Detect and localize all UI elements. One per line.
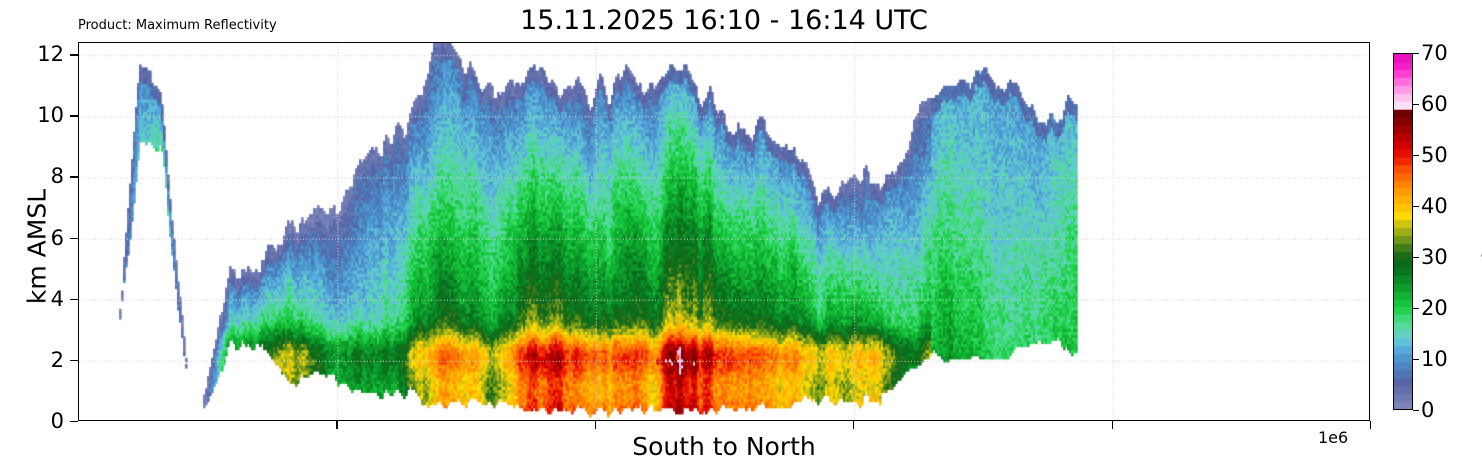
- y-tick-label: 0: [51, 409, 64, 433]
- colorbar-tick-label: 0: [1421, 398, 1434, 422]
- colorbar-tick-label: 60: [1421, 92, 1448, 116]
- y-tick-mark: [70, 360, 78, 361]
- x-tick-mark: [595, 421, 596, 429]
- y-tick-mark: [70, 115, 78, 116]
- y-tick-mark: [70, 299, 78, 300]
- colorbar-tick-mark: [1413, 308, 1419, 309]
- y-tick-label: 8: [51, 164, 64, 188]
- colorbar-tick-mark: [1413, 155, 1419, 156]
- colorbar-tick-mark: [1413, 410, 1419, 411]
- y-tick-label: 2: [51, 348, 64, 372]
- x-axis-label: South to North: [78, 432, 1370, 461]
- x-tick-mark: [1370, 421, 1371, 429]
- reflectivity-heatmap: [79, 43, 1370, 421]
- colorbar-tick-label: 70: [1421, 41, 1448, 65]
- colorbar-gradient: [1393, 53, 1413, 410]
- y-axis-label: km AMSL: [23, 127, 52, 367]
- x-tick-mark: [853, 421, 854, 429]
- y-tick-mark: [70, 54, 78, 55]
- y-tick-label: 12: [37, 42, 64, 66]
- y-tick-mark: [70, 176, 78, 177]
- radar-cross-section-figure: Product: Maximum Reflectivity 15.11.2025…: [0, 0, 1482, 470]
- y-tick-mark: [70, 238, 78, 239]
- colorbar-tick-label: 40: [1421, 194, 1448, 218]
- colorbar-tick-label: 10: [1421, 347, 1448, 371]
- y-tick-label: 4: [51, 287, 64, 311]
- page-title: 15.11.2025 16:10 - 16:14 UTC: [78, 5, 1370, 36]
- y-tick-label: 6: [51, 226, 64, 250]
- colorbar-tick-mark: [1413, 53, 1419, 54]
- colorbar-tick-mark: [1413, 257, 1419, 258]
- y-tick-mark: [70, 421, 78, 422]
- colorbar-tick-mark: [1413, 359, 1419, 360]
- plot-area: [78, 42, 1370, 421]
- x-tick-mark: [336, 421, 337, 429]
- x-tick-mark: [1112, 421, 1113, 429]
- colorbar-tick-mark: [1413, 206, 1419, 207]
- colorbar-tick-label: 20: [1421, 296, 1448, 320]
- colorbar-tick-mark: [1413, 104, 1419, 105]
- colorbar: [1393, 53, 1413, 410]
- x-axis-offset-text: 1e6: [1318, 428, 1348, 447]
- y-tick-label: 10: [37, 103, 64, 127]
- colorbar-tick-label: 30: [1421, 245, 1448, 269]
- colorbar-tick-label: 50: [1421, 143, 1448, 167]
